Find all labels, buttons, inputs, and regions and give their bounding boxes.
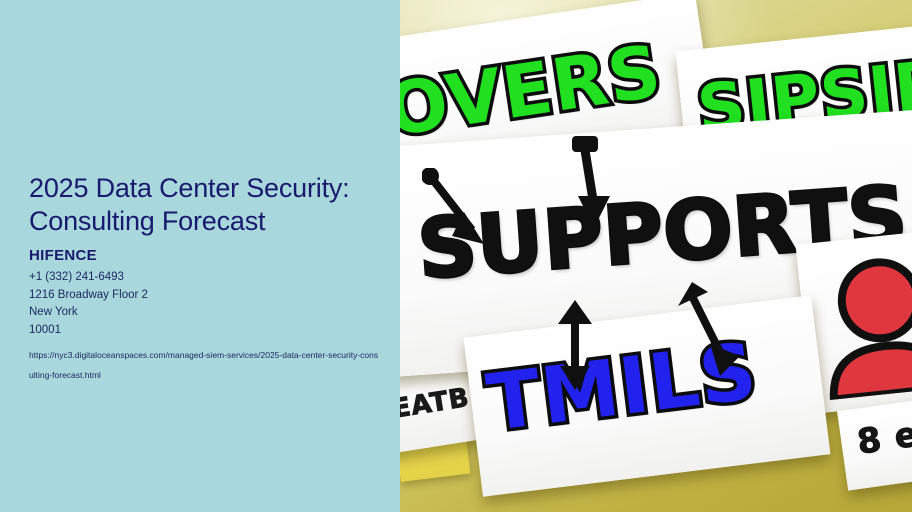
info-content: 2025 Data Center Security: Consulting Fo… [29,172,381,385]
arrow-icon [422,168,492,248]
contact-phone[interactable]: +1 (332) 241-6493 [29,269,381,287]
page-title: 2025 Data Center Security: Consulting Fo… [29,172,381,238]
contact-city: New York [29,304,381,322]
card-text-number: 8 e [855,415,912,463]
info-panel: 2025 Data Center Security: Consulting Fo… [0,0,400,512]
card-text-eatb: EATB [400,383,472,425]
poster-image: TOVERS SIPSID EATB SUPPORTS [400,0,912,512]
contact-zip: 10001 [29,322,381,340]
arrow-icon [676,282,746,378]
brand-name: HIFENCE [29,247,381,265]
contact-street: 1216 Broadway Floor 2 [29,287,381,305]
arrow-icon [564,136,624,232]
arrow-icon [550,300,600,390]
person-icon [813,247,912,400]
poster-preview-page: 2025 Data Center Security: Consulting Fo… [0,0,912,512]
source-url-link[interactable]: https://nyc3.digitaloceanspaces.com/mana… [29,345,379,385]
